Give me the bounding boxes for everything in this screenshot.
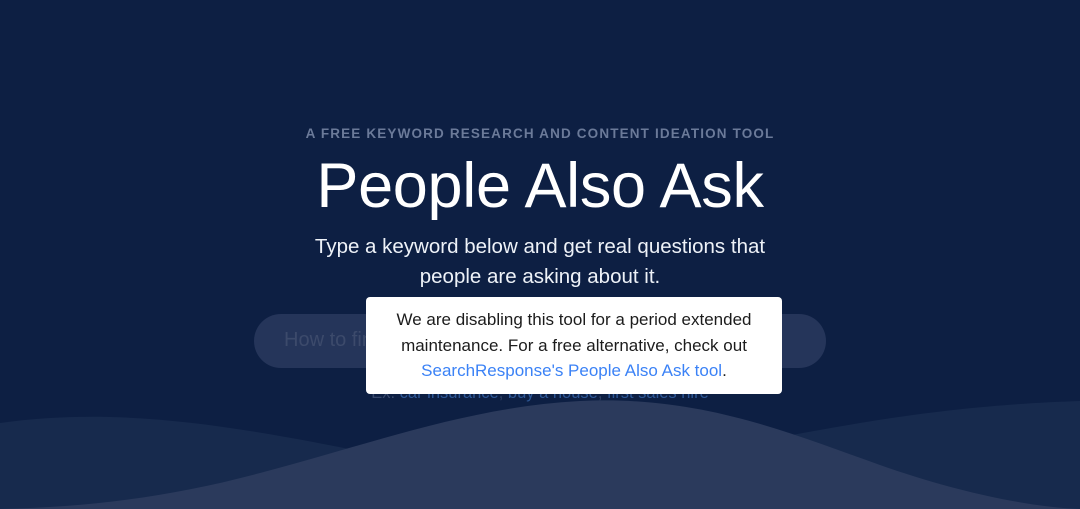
maintenance-message: We are disabling this tool for a period … xyxy=(392,307,756,384)
maintenance-message-line1: We are disabling this tool for a period … xyxy=(396,310,751,329)
maintenance-modal: We are disabling this tool for a period … xyxy=(366,297,782,394)
page-eyebrow: A FREE KEYWORD RESEARCH AND CONTENT IDEA… xyxy=(306,126,775,142)
page-title: People Also Ask xyxy=(316,152,763,220)
maintenance-message-line2: maintenance. For a free alternative, che… xyxy=(401,336,747,355)
hero-section: A FREE KEYWORD RESEARCH AND CONTENT IDEA… xyxy=(0,0,1080,509)
page-subtitle: Type a keyword below and get real questi… xyxy=(305,232,775,291)
maintenance-message-period: . xyxy=(722,361,727,380)
alternative-tool-link[interactable]: SearchResponse's People Also Ask tool xyxy=(421,361,722,380)
